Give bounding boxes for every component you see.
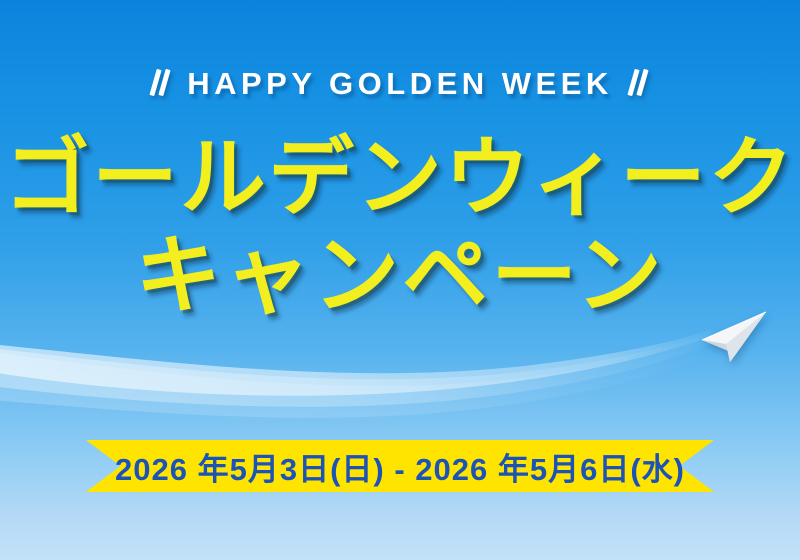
header-title: HAPPY GOLDEN WEEK [187,66,613,102]
campaign-title-line-1: ゴールデンウィーク [0,132,800,224]
double-slash-quote-open-icon [151,69,171,99]
double-slash-quote-close-icon [629,69,649,99]
campaign-title-line-2: キャンペーン [0,230,800,322]
date-ribbon: 2026 年5月3日(日) - 2026 年5月6日(水) [86,440,714,492]
golden-week-campaign-banner: HAPPY GOLDEN WEEK ゴールデンウィーク キャンペーン 2026 … [0,0,800,560]
paper-plane-icon [700,310,768,362]
date-ribbon-text: 2026 年5月3日(日) - 2026 年5月6日(水) [86,440,714,492]
header-row: HAPPY GOLDEN WEEK [0,66,800,102]
campaign-title: ゴールデンウィーク キャンペーン [0,132,800,322]
